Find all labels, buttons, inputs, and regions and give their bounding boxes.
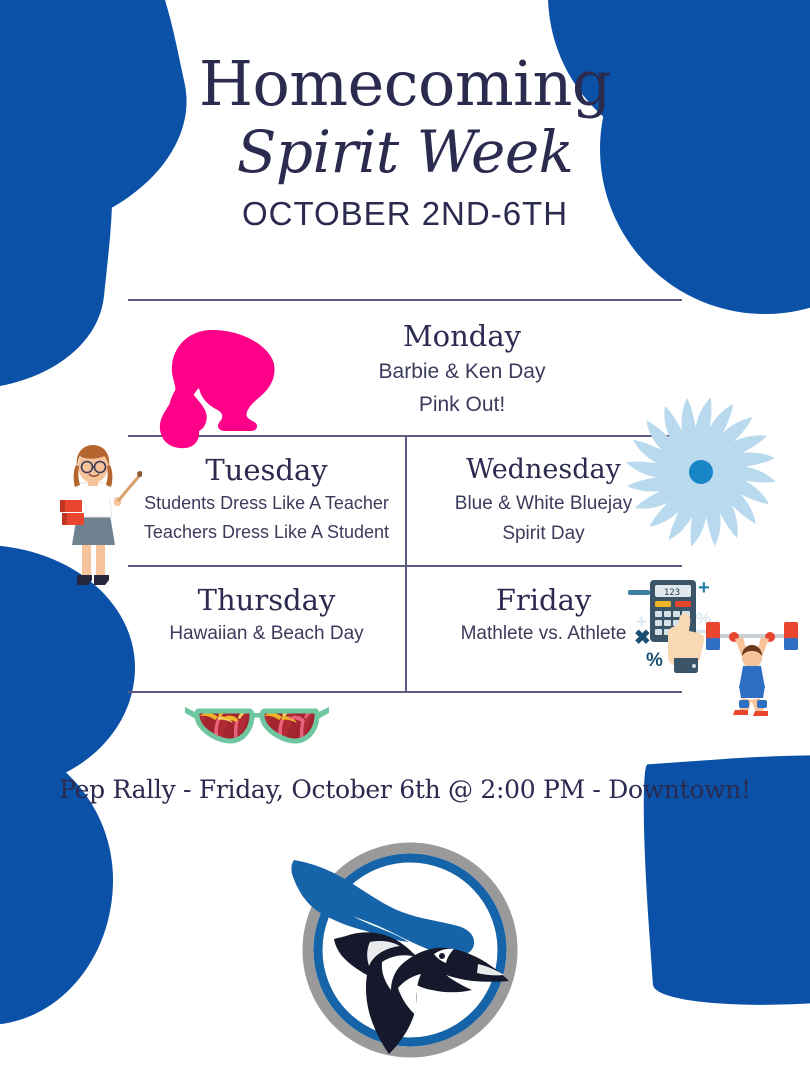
svg-text:%: % — [646, 650, 663, 671]
date-range: OCTOBER 2ND-6TH — [0, 192, 810, 236]
poster-canvas: Homecoming Spirit Week OCTOBER 2ND-6TH M… — [0, 0, 810, 1080]
day-title: Monday — [248, 317, 676, 355]
day-description: Students Dress Like A Teacher — [134, 489, 399, 518]
day-title: Tuesday — [134, 451, 399, 489]
day-description: Hawaiian & Beach Day — [134, 619, 399, 649]
day-title: Thursday — [134, 581, 399, 619]
sunglasses-icon — [183, 697, 331, 759]
teacher-illustration-icon — [44, 443, 142, 595]
pom-pom-icon — [622, 398, 780, 548]
day-description: Teachers Dress Like A Student — [134, 518, 399, 547]
table-row: Tuesday Students Dress Like A Teacher Te… — [128, 437, 682, 565]
pep-rally-note: Pep Rally - Friday, October 6th @ 2:00 P… — [0, 775, 810, 804]
schedule-cell-thursday: Thursday Hawaiian & Beach Day — [128, 567, 405, 691]
weightlifter-icon — [702, 608, 802, 718]
svg-text:+: + — [698, 577, 710, 599]
bluejay-mascot-logo — [282, 838, 532, 1060]
schedule-cell-tuesday: Tuesday Students Dress Like A Teacher Te… — [128, 437, 405, 565]
svg-text:123: 123 — [664, 588, 680, 598]
barbie-silhouette-icon — [150, 328, 278, 450]
svg-text:✖: ✖ — [634, 627, 651, 649]
page-subtitle: Spirit Week — [0, 116, 810, 188]
schedule-rule-bottom — [128, 691, 682, 693]
poster-header: Homecoming Spirit Week OCTOBER 2ND-6TH — [0, 52, 810, 236]
page-title: Homecoming — [0, 52, 810, 116]
table-row: Thursday Hawaiian & Beach Day Friday Mat… — [128, 567, 682, 691]
day-description: Barbie & Ken Day — [248, 355, 676, 388]
schedule-vertical-divider — [405, 437, 407, 565]
day-description: Pink Out! — [248, 388, 676, 421]
schedule-vertical-divider — [405, 567, 407, 691]
